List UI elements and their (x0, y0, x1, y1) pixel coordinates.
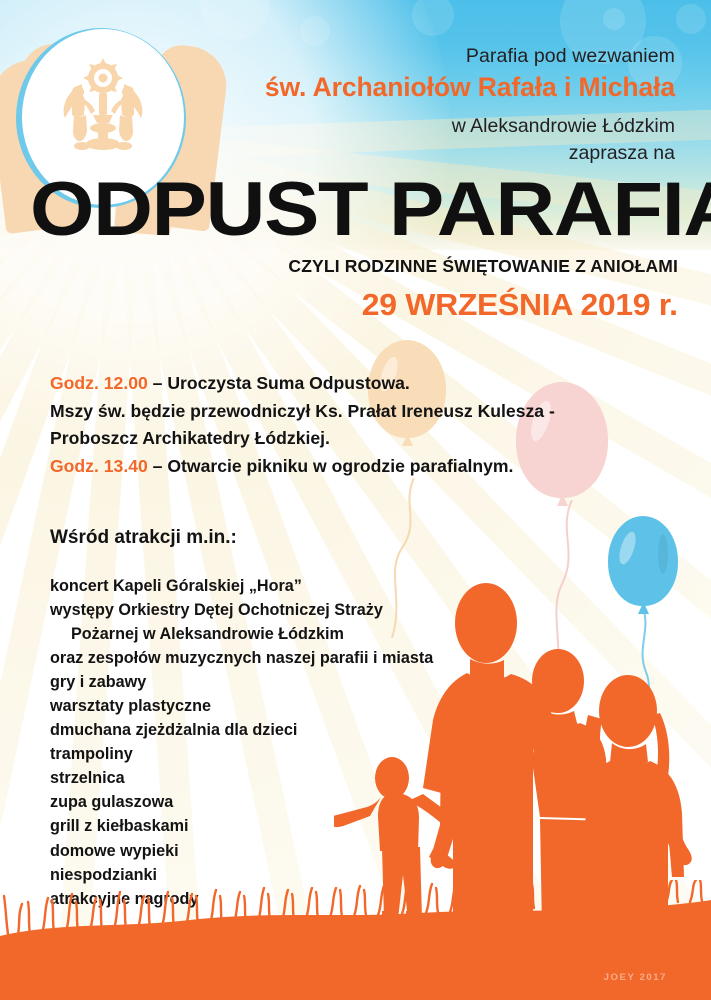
schedule-text: Mszy św. będzie przewodniczył Ks. Prałat… (50, 401, 555, 421)
poster-title: ODPUST PARAFIALNY (30, 166, 711, 253)
attractions-heading: Wśród atrakcji m.in.: (50, 527, 237, 549)
schedule-text: Proboszcz Archikatedry Łódzkiej. (50, 428, 330, 448)
schedule-hour: Godz. 13.40 (50, 456, 148, 476)
parish-city: w Aleksandrowie Łódzkim (265, 112, 675, 140)
schedule-row: Godz. 13.40 – Otwarcie pikniku w ogrodzi… (50, 453, 670, 481)
two-angels-monstrance-icon (36, 52, 170, 168)
parish-line-1: Parafia pod wezwaniem (265, 44, 675, 68)
poster: Parafia pod wezwaniem św. Archaniołów Ra… (0, 0, 711, 1000)
parish-name: św. Archaniołów Rafała i Michała (265, 70, 675, 106)
parish-invite: zaprasza na (265, 140, 675, 166)
poster-subtitle: CZYLI RODZINNE ŚWIĘTOWANIE Z ANIOŁAMI (288, 256, 678, 277)
parish-header: Parafia pod wezwaniem św. Archaniołów Ra… (265, 44, 675, 167)
schedule-hour: Godz. 12.00 (50, 373, 148, 393)
balloon-blue-shade (658, 534, 668, 574)
schedule-row: Godz. 12.00 – Uroczysta Suma Odpustowa. (50, 370, 670, 398)
sky-bubble (200, 0, 270, 40)
schedule-row: Proboszcz Archikatedry Łódzkiej. (50, 425, 670, 453)
watermark: JOEY 2017 (604, 972, 667, 983)
event-date: 29 WRZEŚNIA 2019 r. (362, 287, 678, 323)
schedule-text: – Otwarcie pikniku w ogrodzie parafialny… (148, 456, 514, 476)
schedule-row: Mszy św. będzie przewodniczył Ks. Prałat… (50, 398, 670, 426)
sky-bubble (412, 0, 454, 36)
sky-bubble (300, 16, 330, 46)
sky-bubble (676, 4, 706, 34)
schedule-block: Godz. 12.00 – Uroczysta Suma Odpustowa. … (50, 370, 670, 480)
schedule-text: – Uroczysta Suma Odpustowa. (148, 373, 410, 393)
sky-bubble (603, 8, 625, 30)
